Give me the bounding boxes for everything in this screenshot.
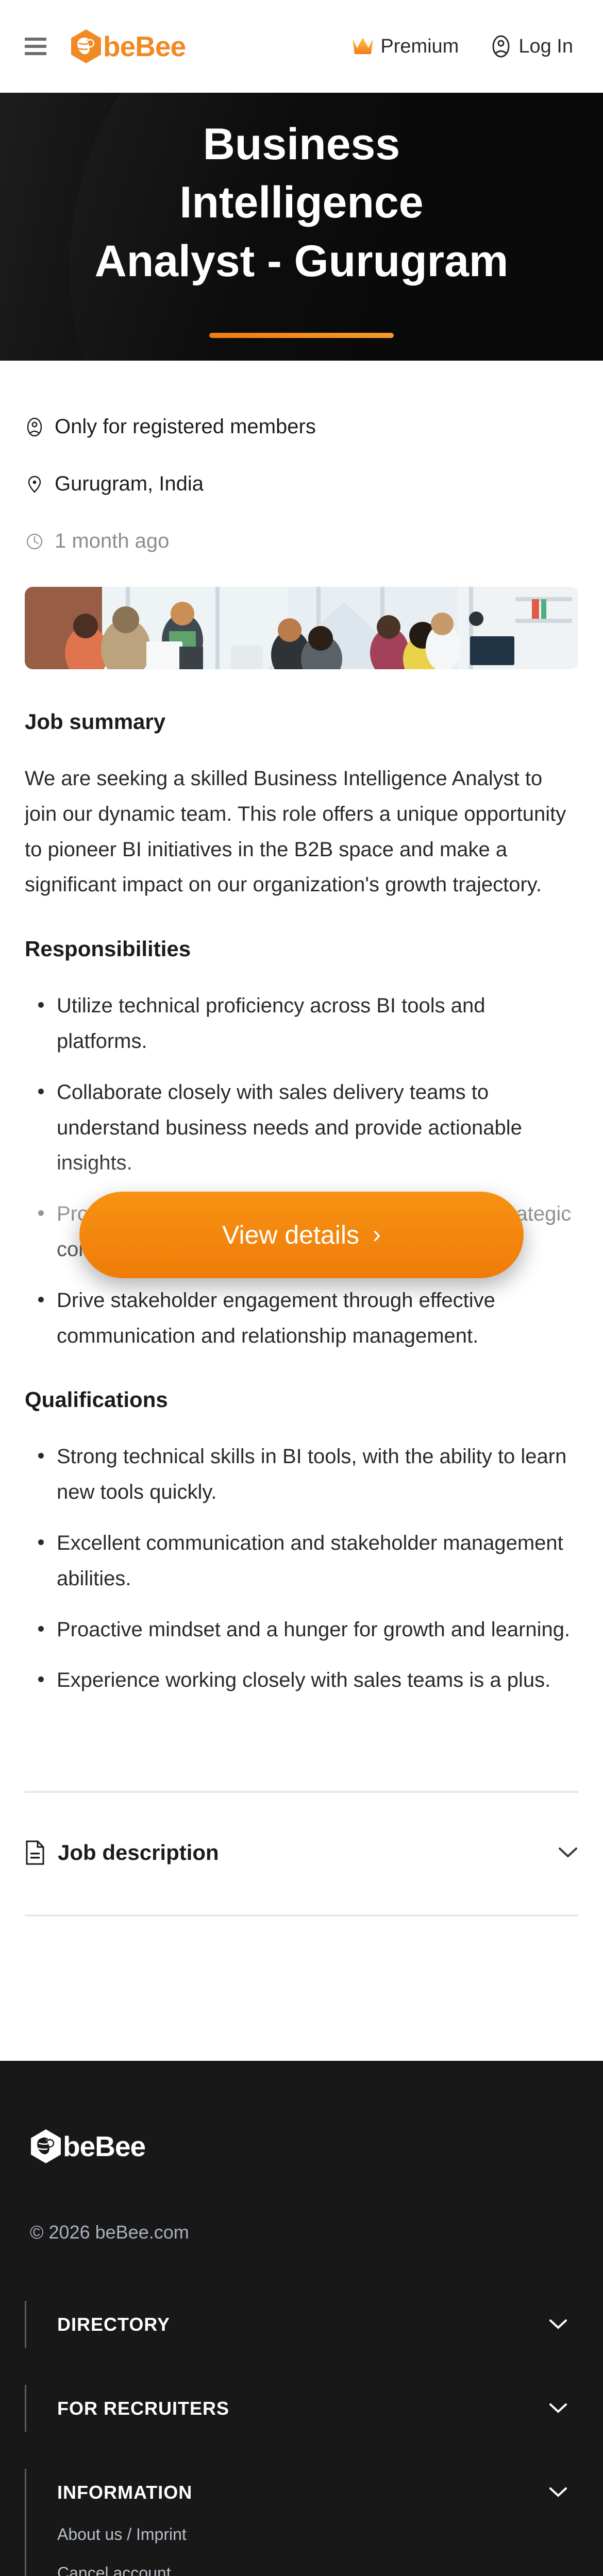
- list-item: Utilize technical proficiency across BI …: [25, 988, 578, 1059]
- meta-posted-text: 1 month ago: [55, 530, 169, 553]
- list-item: Collaborate closely with sales delivery …: [25, 1075, 578, 1181]
- section-divider-bottom: [25, 1914, 578, 1917]
- copyright-text: © 2026 beBee.com: [25, 2222, 578, 2243]
- hero-banner: Business Intelligence Analyst - Gurugram: [0, 93, 603, 361]
- meta-row-audience: Only for registered members: [25, 415, 578, 438]
- chevron-down-icon[interactable]: [548, 2313, 578, 2335]
- header-actions: Premium Log In: [351, 35, 578, 58]
- list-item: Experience working closely with sales te…: [25, 1663, 578, 1698]
- job-description-label: Job description: [58, 1840, 219, 1865]
- hamburger-bar: [25, 45, 46, 48]
- footer-accordion-header-for-recruiters[interactable]: FOR RECRUITERS: [45, 2385, 578, 2432]
- bebee-hex-icon: [30, 2129, 62, 2164]
- footer-wordmark: beBee: [63, 2132, 145, 2161]
- premium-label: Premium: [380, 36, 459, 58]
- footer-accordion-header-information[interactable]: INFORMATION: [45, 2469, 578, 2516]
- hamburger-bar: [25, 52, 46, 55]
- page-title: Business Intelligence Analyst - Gurugram: [0, 115, 603, 291]
- page-title-line2: Analyst - Gurugram: [77, 232, 526, 291]
- job-description-accordion[interactable]: Job description: [25, 1793, 578, 1914]
- meta-row-location: Gurugram, India: [25, 472, 578, 496]
- page-title-line1: Business Intelligence: [77, 115, 526, 232]
- footer-links-information: About us / Imprint Cancel account Cookie…: [45, 2516, 578, 2576]
- section-heading-summary: Job summary: [25, 709, 578, 734]
- site-header: beBee Premium Log In: [0, 0, 603, 93]
- login-label: Log In: [518, 36, 573, 58]
- bebee-logo[interactable]: beBee: [70, 29, 186, 64]
- list-item: Proactive mindset and a hunger for growt…: [25, 1612, 578, 1648]
- bebee-wordmark: beBee: [103, 32, 186, 61]
- list-item: Excellent communication and stakeholder …: [25, 1526, 578, 1597]
- job-meta-list: Only for registered members Gurugram, In…: [25, 361, 578, 553]
- list-item: Drive stakeholder engagement through eff…: [25, 1283, 578, 1354]
- location-pin-icon: [25, 474, 44, 494]
- list-item: Strong technical skills in BI tools, wit…: [25, 1439, 578, 1510]
- meta-location-text: Gurugram, India: [55, 472, 204, 496]
- qualifications-list: Strong technical skills in BI tools, wit…: [25, 1439, 578, 1698]
- chevron-right-icon: ›: [373, 1223, 381, 1247]
- user-circle-icon: [490, 35, 512, 58]
- footer-section-information: INFORMATION About us / Imprint Cancel ac…: [25, 2469, 578, 2576]
- footer-accordion-title: FOR RECRUITERS: [57, 2398, 229, 2419]
- footer-accordion-title: DIRECTORY: [57, 2314, 170, 2335]
- footer-link-about-us[interactable]: About us / Imprint: [57, 2525, 578, 2544]
- login-button[interactable]: Log In: [490, 35, 573, 58]
- page-body: Only for registered members Gurugram, In…: [0, 361, 603, 1917]
- footer-link-cancel-account[interactable]: Cancel account: [57, 2564, 578, 2576]
- job-content: Job summary We are seeking a skilled Bus…: [25, 669, 578, 1698]
- hamburger-bar: [25, 38, 46, 41]
- crown-icon: [351, 37, 374, 56]
- chevron-down-icon[interactable]: [558, 1841, 578, 1865]
- user-circle-icon: [25, 417, 44, 437]
- bebee-hex-icon: [70, 29, 102, 64]
- document-icon: [25, 1840, 45, 1865]
- hamburger-icon[interactable]: [25, 38, 46, 55]
- footer-logo[interactable]: beBee: [25, 2129, 578, 2164]
- chevron-down-icon[interactable]: [548, 2481, 578, 2503]
- clock-icon: [25, 532, 44, 551]
- footer-accordion-header-directory[interactable]: DIRECTORY: [45, 2301, 578, 2348]
- meta-row-posted: 1 month ago: [25, 530, 578, 553]
- footer-accordion-title: INFORMATION: [57, 2482, 192, 2503]
- responsibilities-list: Utilize technical proficiency across BI …: [25, 988, 578, 1353]
- meta-audience-text: Only for registered members: [55, 415, 316, 438]
- chevron-down-icon[interactable]: [548, 2397, 578, 2419]
- title-underline: [209, 333, 394, 338]
- premium-button[interactable]: Premium: [351, 36, 459, 58]
- view-details-button[interactable]: View details ›: [79, 1192, 524, 1278]
- footer-section-directory: DIRECTORY: [25, 2301, 578, 2348]
- view-details-label: View details: [222, 1220, 359, 1250]
- footer-section-for-recruiters: FOR RECRUITERS: [25, 2385, 578, 2432]
- job-summary-text: We are seeking a skilled Business Intell…: [25, 761, 578, 903]
- site-footer: beBee © 2026 beBee.com DIRECTORY FOR REC…: [0, 2061, 603, 2576]
- section-heading-responsibilities: Responsibilities: [25, 937, 578, 961]
- section-heading-qualifications: Qualifications: [25, 1387, 578, 1412]
- office-photo-banner: [25, 587, 578, 669]
